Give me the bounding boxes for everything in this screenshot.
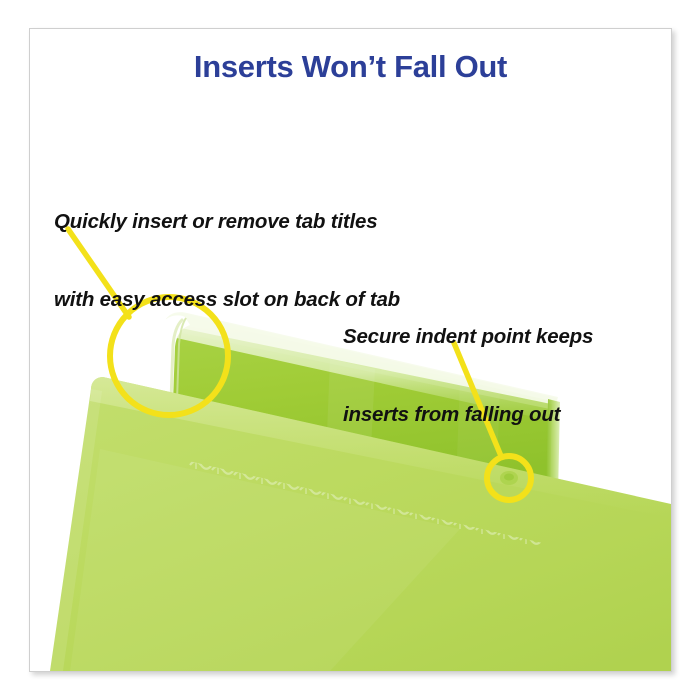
page-title: Inserts Won’t Fall Out bbox=[30, 49, 671, 85]
indent-callout-caption-line1: Secure indent point keeps bbox=[343, 324, 593, 350]
indent-callout-caption-line2: inserts from falling out bbox=[343, 402, 593, 428]
product-image-frame: Inserts Won’t Fall Out Quickly insert or… bbox=[29, 28, 672, 672]
slot-callout-caption-line1: Quickly insert or remove tab titles bbox=[54, 209, 400, 235]
screenshot-canvas: Inserts Won’t Fall Out Quickly insert or… bbox=[0, 0, 700, 700]
indent-callout-caption: Secure indent point keeps inserts from f… bbox=[343, 272, 593, 480]
